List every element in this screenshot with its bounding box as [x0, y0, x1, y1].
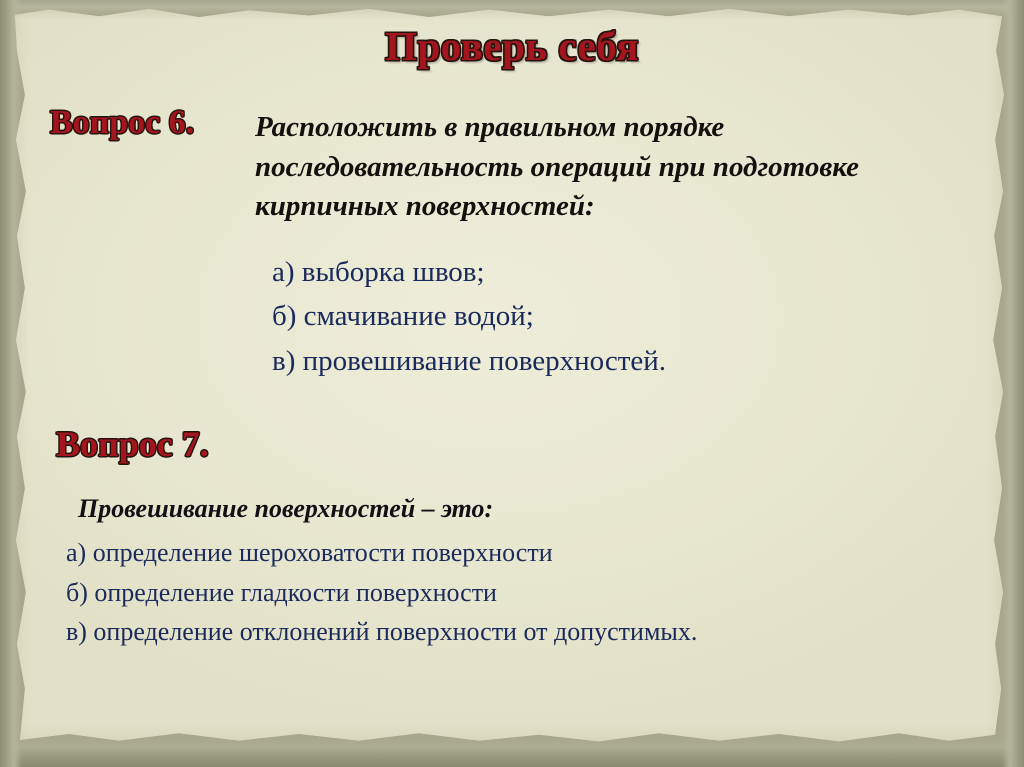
question-6-label: Вопрос 6.	[50, 104, 194, 142]
question-6-option-c[interactable]: в) провешивание поверхностей.	[272, 339, 666, 383]
question-6-option-a[interactable]: а) выборка швов;	[272, 250, 666, 294]
question-6-stem: Расположить в правильном порядке последо…	[255, 108, 985, 227]
question-6-stem-line-2: последовательность операций при подготов…	[255, 148, 985, 188]
question-6-stem-line-1: Расположить в правильном порядке	[255, 108, 985, 148]
slide-content: Проверь себя Вопрос 6. Расположить в пра…	[0, 0, 1024, 767]
question-7-option-a[interactable]: а) определение шероховатости поверхности	[66, 533, 697, 573]
question-7-option-c[interactable]: в) определение отклонений поверхности от…	[66, 612, 697, 652]
slide-canvas: Проверь себя Вопрос 6. Расположить в пра…	[0, 0, 1024, 767]
slide-title: Проверь себя	[0, 22, 1024, 70]
question-6-stem-line-3: кирпичных поверхностей:	[255, 187, 985, 227]
question-7-option-b[interactable]: б) определение гладкости поверхности	[66, 573, 697, 613]
question-7-stem: Провешивание поверхностей – это:	[78, 494, 493, 524]
question-7-options: а) определение шероховатости поверхности…	[66, 533, 697, 652]
question-7-label: Вопрос 7.	[56, 423, 209, 465]
question-6-option-b[interactable]: б) смачивание водой;	[272, 294, 666, 338]
question-6-options: а) выборка швов; б) смачивание водой; в)…	[272, 250, 666, 383]
